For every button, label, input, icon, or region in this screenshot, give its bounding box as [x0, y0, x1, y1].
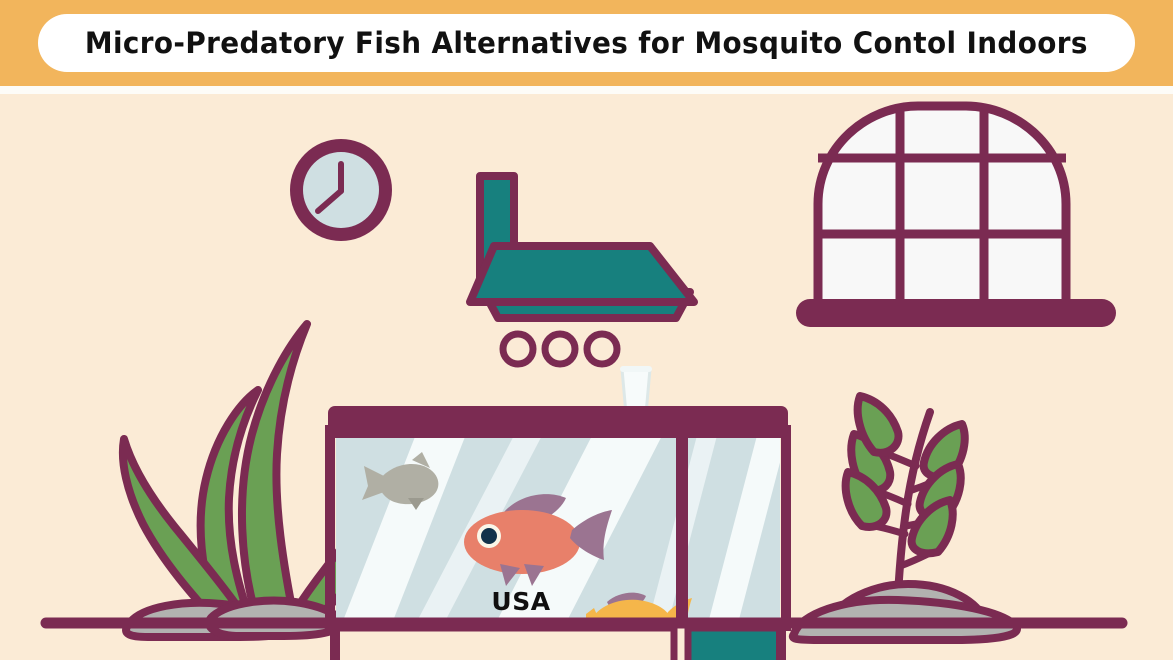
porthole-icon [545, 334, 575, 364]
scene-illustration: USA [0, 94, 1173, 660]
tank-cabinet-panel [336, 628, 674, 660]
title-pill: Micro-Predatory Fish Alternatives for Mo… [38, 14, 1135, 72]
tank-side-panel [688, 628, 780, 660]
cabinet-label: USA [431, 587, 611, 616]
porthole-icon [587, 334, 617, 364]
tank-divider [676, 430, 688, 626]
porthole-icon [503, 334, 533, 364]
page-title: Micro-Predatory Fish Alternatives for Mo… [85, 26, 1088, 60]
window-sill [796, 299, 1116, 327]
header-underline [0, 86, 1173, 94]
tank-top-rim [328, 406, 788, 438]
poster-canvas: Micro-Predatory Fish Alternatives for Mo… [0, 0, 1173, 660]
wall-clock-icon [290, 139, 392, 241]
